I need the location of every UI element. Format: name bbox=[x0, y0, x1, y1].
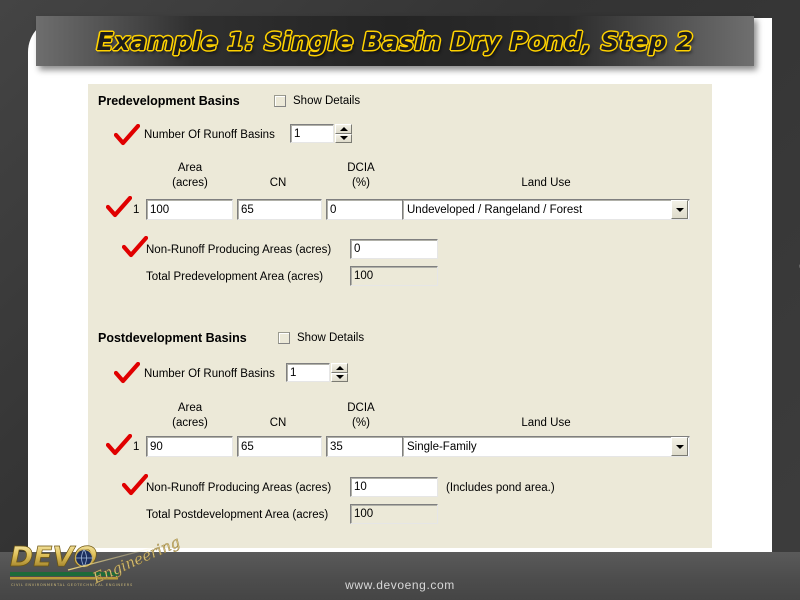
annotation-checkmark-icon bbox=[106, 434, 132, 456]
checkbox-box[interactable] bbox=[278, 332, 290, 344]
predevelopment-header-dcia-unit: (%) bbox=[320, 177, 402, 189]
predevelopment-num-basins-input[interactable]: 1 bbox=[290, 124, 334, 143]
dropdown-arrow-button[interactable] bbox=[671, 437, 688, 456]
triangle-down-icon bbox=[340, 136, 348, 140]
predevelopment-section-title: Predevelopment Basins bbox=[98, 94, 240, 108]
postdevelopment-non-runoff-input[interactable]: 10 bbox=[350, 477, 438, 497]
spinner-up-button[interactable] bbox=[331, 363, 348, 373]
postdevelopment-header-area-unit: (acres) bbox=[148, 417, 232, 429]
chevron-down-icon bbox=[676, 445, 684, 449]
predevelopment-num-basins-label: Number Of Runoff Basins bbox=[144, 129, 275, 141]
predevelopment-land-use-value: Undeveloped / Rangeland / Forest bbox=[403, 204, 670, 216]
annotation-checkmark-icon bbox=[122, 236, 148, 258]
postdevelopment-header-area: Area bbox=[148, 402, 232, 414]
page-title: Example 1: Single Basin Dry Pond, Step 2 bbox=[96, 27, 693, 56]
postdevelopment-section-title: Postdevelopment Basins bbox=[98, 331, 247, 345]
spinner-down-button[interactable] bbox=[335, 134, 352, 144]
predevelopment-num-basins-spinner[interactable] bbox=[335, 124, 352, 143]
predevelopment-total-value: 100 bbox=[350, 266, 438, 286]
devo-logo: DEVO CIVIL ENVIRONMENTAL GEOTECHNICAL EN… bbox=[8, 536, 208, 594]
predevelopment-header-dcia: DCIA bbox=[320, 162, 402, 174]
predevelopment-non-runoff-label: Non-Runoff Producing Areas (acres) bbox=[146, 244, 331, 256]
checkbox-box[interactable] bbox=[274, 95, 286, 107]
spinner-up-button[interactable] bbox=[335, 124, 352, 134]
svg-text:Engineering: Engineering bbox=[89, 536, 183, 588]
triangle-up-icon bbox=[336, 366, 344, 370]
triangle-up-icon bbox=[340, 127, 348, 131]
postdevelopment-non-runoff-label: Non-Runoff Producing Areas (acres) bbox=[146, 482, 331, 494]
postdevelopment-cn-input[interactable]: 65 bbox=[237, 436, 322, 457]
postdevelopment-show-details-checkbox[interactable]: Show Details bbox=[278, 332, 364, 344]
predevelopment-header-area: Area bbox=[148, 162, 232, 174]
postdevelopment-header-dcia: DCIA bbox=[320, 402, 402, 414]
annotation-checkmark-icon bbox=[122, 474, 148, 496]
predevelopment-header-land-use: Land Use bbox=[404, 177, 688, 189]
logo-script: Engineering bbox=[89, 536, 183, 588]
postdevelopment-num-basins-label: Number Of Runoff Basins bbox=[144, 368, 275, 380]
postdevelopment-area-input[interactable]: 90 bbox=[146, 436, 233, 457]
postdevelopment-num-basins-spinner[interactable] bbox=[331, 363, 348, 382]
postdevelopment-header-land-use: Land Use bbox=[404, 417, 688, 429]
chevron-down-icon bbox=[676, 208, 684, 212]
application-panel: Predevelopment Basins Show Details Numbe… bbox=[88, 84, 712, 548]
annotation-checkmark-icon bbox=[114, 362, 140, 384]
predevelopment-show-details-checkbox[interactable]: Show Details bbox=[274, 95, 360, 107]
postdevelopment-header-cn: CN bbox=[236, 417, 320, 429]
predevelopment-row-index: 1 bbox=[133, 204, 139, 216]
postdevelopment-num-basins-input[interactable]: 1 bbox=[286, 363, 330, 382]
postdevelopment-non-runoff-note: (Includes pond area.) bbox=[446, 482, 555, 494]
predevelopment-cn-input[interactable]: 65 bbox=[237, 199, 322, 220]
predevelopment-show-details-label: Show Details bbox=[293, 95, 360, 107]
postdevelopment-show-details-label: Show Details bbox=[297, 332, 364, 344]
predevelopment-land-use-select[interactable]: Undeveloped / Rangeland / Forest bbox=[402, 199, 690, 220]
postdevelopment-dcia-input[interactable]: 35 bbox=[326, 436, 411, 457]
spinner-down-button[interactable] bbox=[331, 373, 348, 383]
title-banner: Example 1: Single Basin Dry Pond, Step 2 bbox=[36, 16, 754, 66]
annotation-checkmark-icon bbox=[106, 196, 132, 218]
postdevelopment-total-value: 100 bbox=[350, 504, 438, 524]
predevelopment-header-cn: CN bbox=[236, 177, 320, 189]
predevelopment-header-area-unit: (acres) bbox=[148, 177, 232, 189]
postdevelopment-land-use-value: Single-Family bbox=[403, 441, 670, 453]
dropdown-arrow-button[interactable] bbox=[671, 200, 688, 219]
predevelopment-non-runoff-input[interactable]: 0 bbox=[350, 239, 438, 259]
logo-tagline: CIVIL ENVIRONMENTAL GEOTECHNICAL ENGINEE… bbox=[11, 583, 133, 587]
annotation-checkmark-icon bbox=[114, 124, 140, 146]
predevelopment-area-input[interactable]: 100 bbox=[146, 199, 233, 220]
predevelopment-total-label: Total Predevelopment Area (acres) bbox=[146, 271, 323, 283]
postdevelopment-row-index: 1 bbox=[133, 441, 139, 453]
postdevelopment-land-use-select[interactable]: Single-Family bbox=[402, 436, 690, 457]
triangle-down-icon bbox=[336, 375, 344, 379]
slide: Example 1: Single Basin Dry Pond, Step 2… bbox=[0, 0, 800, 600]
predevelopment-dcia-input[interactable]: 0 bbox=[326, 199, 411, 220]
postdevelopment-header-dcia-unit: (%) bbox=[320, 417, 402, 429]
postdevelopment-total-label: Total Postdevelopment Area (acres) bbox=[146, 509, 328, 521]
